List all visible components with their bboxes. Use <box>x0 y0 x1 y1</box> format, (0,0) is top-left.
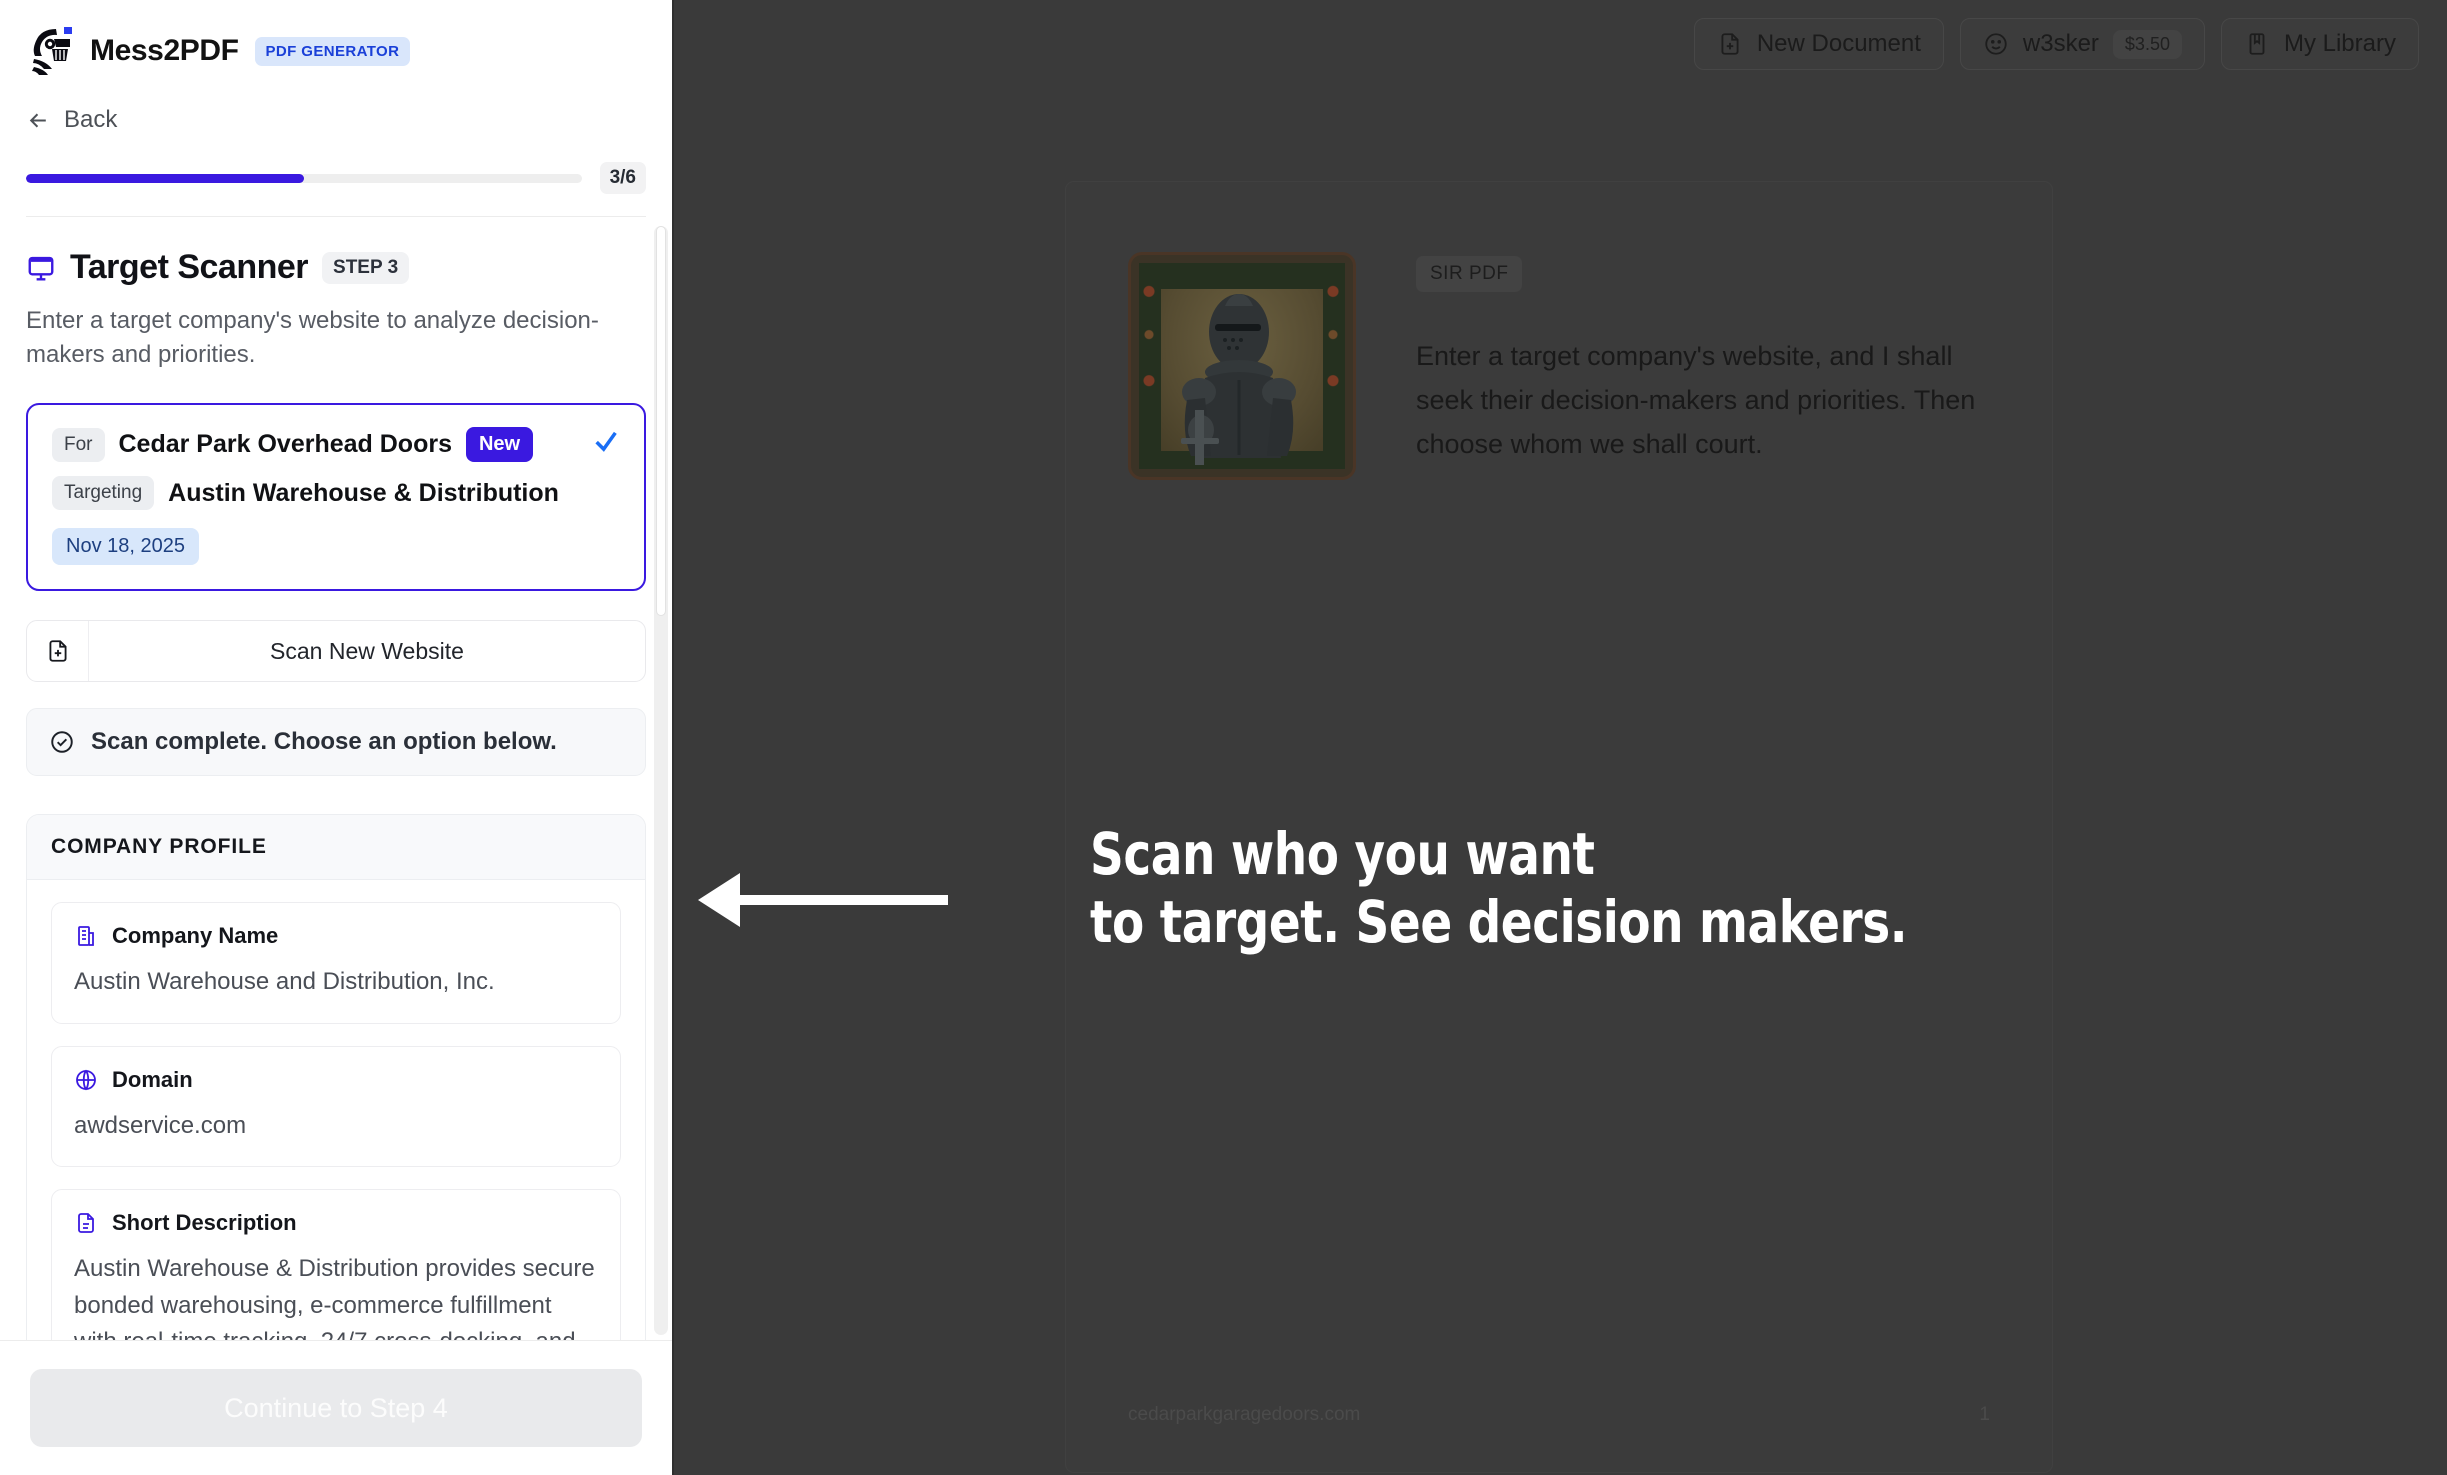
knight-figure <box>1167 280 1317 465</box>
assistant-message-row: SIR PDF Enter a target company's website… <box>1128 252 1990 480</box>
back-label: Back <box>64 106 117 134</box>
assistant-message-text: Enter a target company's website, and I … <box>1416 334 1986 466</box>
continue-button[interactable]: Continue to Step 4 <box>30 1369 642 1447</box>
status-text: Scan complete. Choose an option below. <box>91 728 557 756</box>
field-label: Short Description <box>112 1210 297 1236</box>
panel-header: Mess2PDF PDF GENERATOR Back 3/6 <box>0 0 672 217</box>
progress-fill <box>26 174 304 183</box>
page-title-text: Target Scanner <box>70 248 308 287</box>
account-balance-badge: $3.50 <box>2113 30 2182 59</box>
targeting-value: Austin Warehouse & Distribution <box>168 479 559 508</box>
brand-name: Mess2PDF <box>90 34 239 68</box>
field-label-row: Company Name <box>74 923 598 949</box>
footer-page-number: 1 <box>1979 1404 1990 1426</box>
arrow-left-icon <box>26 108 51 133</box>
progress-track <box>26 174 582 183</box>
callout-line-2: to target. See decision makers. <box>1090 888 1990 956</box>
brand[interactable]: Mess2PDF PDF GENERATOR <box>26 20 646 82</box>
bookmark-book-icon <box>2244 31 2270 57</box>
panel-scrollbar-thumb[interactable] <box>656 226 666 616</box>
field-company-name: Company Name Austin Warehouse and Distri… <box>51 902 621 1023</box>
page-subtitle: Enter a target company's website to anal… <box>26 304 626 372</box>
arrow-left-long-icon <box>698 868 948 938</box>
company-profile-header: COMPANY PROFILE <box>27 815 645 880</box>
document-footer: cedarparkgaragedoors.com 1 <box>1128 1404 1990 1426</box>
company-profile-fields: Company Name Austin Warehouse and Distri… <box>27 880 645 1340</box>
company-profile-card: COMPANY PROFILE Company Name <box>26 814 646 1340</box>
target-card-for-row: For Cedar Park Overhead Doors New <box>52 427 620 462</box>
target-card-selected[interactable]: For Cedar Park Overhead Doors New Target… <box>26 403 646 591</box>
back-button[interactable]: Back <box>26 106 646 134</box>
new-document-button[interactable]: New Document <box>1694 18 1944 70</box>
wizard-panel: Mess2PDF PDF GENERATOR Back 3/6 <box>0 0 672 1475</box>
for-chip: For <box>52 428 105 462</box>
document-text-icon <box>74 1211 98 1235</box>
smiley-face-icon <box>1983 31 2009 57</box>
field-label: Company Name <box>112 923 278 949</box>
scan-new-website-label: Scan New Website <box>89 621 645 681</box>
brand-tagline-badge: PDF GENERATOR <box>255 37 411 66</box>
footer-domain: cedarparkgaragedoors.com <box>1128 1404 1360 1426</box>
field-value: Austin Warehouse & Distribution provides… <box>74 1251 598 1340</box>
field-label: Domain <box>112 1067 193 1093</box>
status-banner: Scan complete. Choose an option below. <box>26 708 646 776</box>
target-card-targeting-row: Targeting Austin Warehouse & Distributio… <box>52 476 620 510</box>
step-badge: STEP 3 <box>322 252 409 284</box>
field-label-row: Short Description <box>74 1210 598 1236</box>
check-circle-icon <box>49 729 75 755</box>
header-divider <box>26 216 646 217</box>
assistant-bubble: SIR PDF Enter a target company's website… <box>1416 252 1986 466</box>
building-icon <box>74 924 98 948</box>
field-value: Austin Warehouse and Distribution, Inc. <box>74 964 598 1000</box>
targeting-chip: Targeting <box>52 476 154 510</box>
progress-bar: 3/6 <box>26 162 646 194</box>
new-document-label: New Document <box>1757 30 1921 58</box>
field-short-description: Short Description Austin Warehouse & Dis… <box>51 1189 621 1340</box>
check-icon <box>592 427 620 460</box>
file-plus-icon <box>1717 31 1743 57</box>
screen-root: New Document w3sker $3.50 <box>0 0 2447 1475</box>
globe-icon <box>74 1068 98 1092</box>
my-library-button[interactable]: My Library <box>2221 18 2419 70</box>
field-value: awdservice.com <box>74 1108 598 1144</box>
field-label-row: Domain <box>74 1067 598 1093</box>
knight-portrait-illustration <box>1128 252 1356 480</box>
callout-text: Scan who you want to target. See decisio… <box>1090 820 1990 957</box>
monitor-icon <box>26 253 56 283</box>
target-card-date: Nov 18, 2025 <box>52 528 199 565</box>
my-library-label: My Library <box>2284 30 2396 58</box>
field-domain: Domain awdservice.com <box>51 1046 621 1167</box>
knight-helmet-icon <box>26 25 74 77</box>
file-plus-icon <box>27 621 89 681</box>
progress-count: 3/6 <box>600 162 646 194</box>
scan-new-website-button[interactable]: Scan New Website <box>26 620 646 682</box>
account-name-label: w3sker <box>2023 30 2099 58</box>
wizard-step-body: Target Scanner STEP 3 Enter a target com… <box>0 222 672 1340</box>
new-badge: New <box>466 427 533 462</box>
panel-footer: Continue to Step 4 <box>0 1340 672 1475</box>
account-button[interactable]: w3sker $3.50 <box>1960 18 2205 70</box>
panel-scrollbar-track[interactable] <box>654 226 668 1335</box>
callout-line-1: Scan who you want <box>1090 820 1990 888</box>
page-title: Target Scanner STEP 3 <box>26 248 646 287</box>
speaker-tag: SIR PDF <box>1416 256 1522 292</box>
for-value: Cedar Park Overhead Doors <box>119 430 452 459</box>
